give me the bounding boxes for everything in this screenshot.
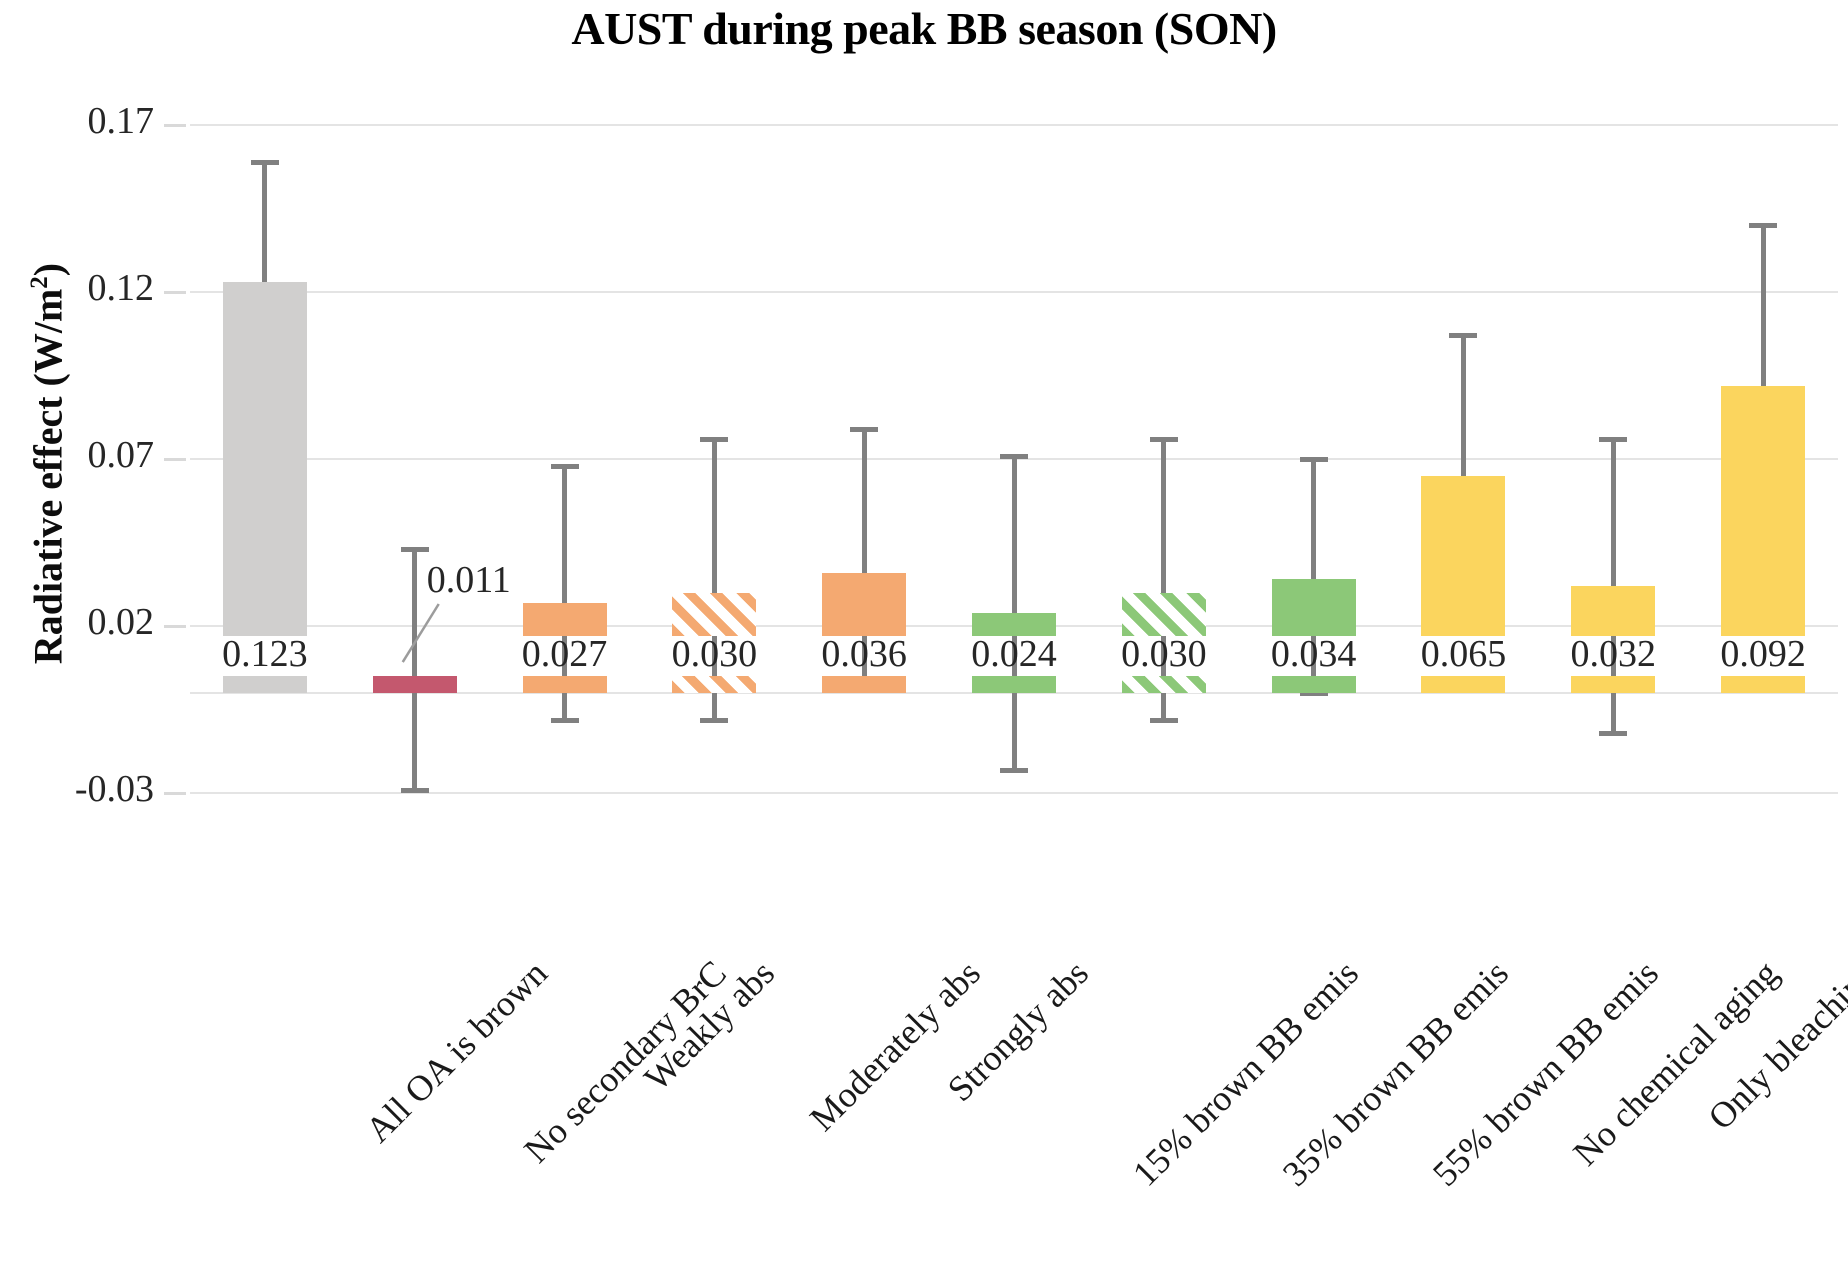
- bar: [223, 282, 307, 636]
- error-bar-cap-upper: [700, 437, 728, 442]
- bar: [1421, 476, 1505, 636]
- gridline: [190, 124, 1838, 126]
- bar-value-callout-label: 0.011: [427, 558, 587, 602]
- y-axis-tick-label: 0.12: [0, 266, 154, 310]
- y-axis-tick-label: 0.17: [0, 99, 154, 143]
- gridline: [190, 792, 1838, 794]
- bar: [972, 676, 1056, 693]
- error-bar-cap-upper: [1150, 437, 1178, 442]
- bar-value-label: 0.027: [485, 632, 645, 676]
- bar: [1421, 676, 1505, 693]
- error-bar-cap-upper: [1599, 437, 1627, 442]
- chart-canvas: AUST during peak BB season (SON) Radiati…: [0, 0, 1848, 1277]
- bar: [672, 676, 756, 693]
- y-axis-tick-mark: [164, 625, 186, 628]
- bar: [523, 676, 607, 693]
- bar-value-label: 0.036: [784, 632, 944, 676]
- bar-value-label: 0.092: [1683, 632, 1843, 676]
- bar: [1272, 579, 1356, 636]
- y-axis-tick-label: 0.02: [0, 600, 154, 644]
- error-bar-cap-upper: [1449, 333, 1477, 338]
- bar: [1272, 676, 1356, 693]
- y-axis-tick-mark: [164, 124, 186, 127]
- bar-value-label: 0.123: [185, 632, 345, 676]
- bar-value-label: 0.030: [1084, 632, 1244, 676]
- error-bar-cap-upper: [251, 160, 279, 165]
- bar-value-label: 0.024: [934, 632, 1094, 676]
- error-bar-cap-lower: [551, 718, 579, 723]
- error-bar-stem: [412, 549, 417, 789]
- error-bar-cap-lower: [1599, 731, 1627, 736]
- bar: [1571, 586, 1655, 636]
- error-bar-cap-lower: [1150, 718, 1178, 723]
- error-bar-cap-upper: [1000, 454, 1028, 459]
- bar: [373, 676, 457, 693]
- bar-value-label: 0.034: [1234, 632, 1394, 676]
- y-axis-tick-label: 0.07: [0, 433, 154, 477]
- bar: [1122, 676, 1206, 693]
- y-axis-tick-label: -0.03: [0, 767, 154, 811]
- bar-value-label: 0.065: [1383, 632, 1543, 676]
- bar: [672, 593, 756, 636]
- bar: [1571, 676, 1655, 693]
- y-axis-tick-mark: [164, 458, 186, 461]
- x-axis-category-label: Moderately abs: [802, 952, 989, 1139]
- x-axis-category-label: All OA is brown: [357, 952, 556, 1151]
- bar: [1122, 593, 1206, 636]
- bar: [1721, 386, 1805, 636]
- error-bar-cap-upper: [551, 464, 579, 469]
- y-axis-tick-mark: [164, 291, 186, 294]
- bar: [822, 676, 906, 693]
- bar-value-label: 0.030: [634, 632, 794, 676]
- error-bar-cap-upper: [401, 547, 429, 552]
- y-axis-tick-mark: [164, 792, 186, 795]
- error-bar-cap-upper: [1300, 457, 1328, 462]
- error-bar-cap-lower: [1000, 768, 1028, 773]
- chart-title: AUST during peak BB season (SON): [0, 2, 1848, 55]
- error-bar-cap-upper: [1749, 223, 1777, 228]
- bar: [1721, 676, 1805, 693]
- error-bar-cap-lower: [700, 718, 728, 723]
- gridline: [190, 291, 1838, 293]
- error-bar-cap-lower: [401, 788, 429, 793]
- bar: [822, 573, 906, 636]
- bar: [223, 676, 307, 693]
- bar-value-label: 0.032: [1533, 632, 1693, 676]
- error-bar-cap-upper: [850, 427, 878, 432]
- bar: [523, 603, 607, 636]
